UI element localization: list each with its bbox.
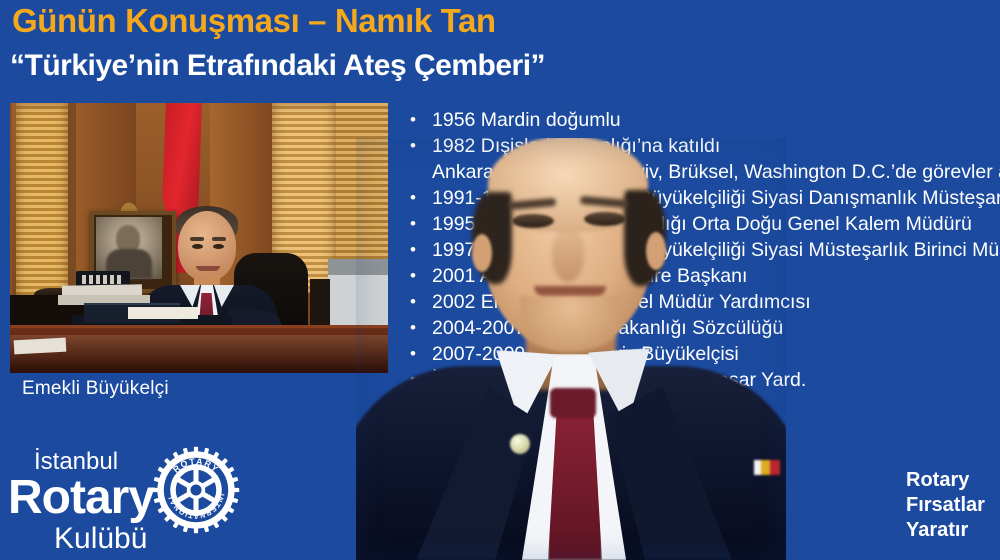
photo-telephone-keys bbox=[82, 275, 124, 284]
presentation-slide: Günün Konuşması – Namık Tan “Türkiye’nin… bbox=[0, 0, 1000, 560]
club-suffix-label: Kulübü bbox=[54, 522, 147, 556]
rotary-tagline: RotaryFırsatlarYaratır bbox=[906, 468, 985, 543]
club-name-label: Rotary bbox=[8, 470, 154, 525]
bullet-item-0: •1956 Mardin doğumlu bbox=[406, 107, 1000, 133]
photo-man-brow-right bbox=[212, 237, 226, 241]
photo-caption: Emekli Büyükelçi bbox=[22, 378, 169, 400]
tagline-line-2: Yaratır bbox=[906, 518, 985, 543]
photo-desk-reflection bbox=[10, 335, 388, 369]
photo-window-blinds-left bbox=[16, 103, 68, 303]
bullet-marker-icon: • bbox=[406, 107, 432, 133]
photo-desk-paper-center bbox=[128, 307, 198, 319]
speaker-photo bbox=[10, 103, 388, 373]
video-edge-blend bbox=[356, 138, 786, 560]
photo-man-mouth bbox=[196, 266, 220, 271]
slide-title: Günün Konuşması – Namık Tan bbox=[12, 2, 752, 40]
photo-man-eye-left bbox=[192, 244, 203, 249]
slide-subtitle: “Türkiye’nin Etrafındaki Ateş Çemberi” bbox=[10, 48, 770, 84]
photo-man-eye-right bbox=[213, 244, 224, 249]
tagline-line-0: Rotary bbox=[906, 468, 985, 493]
rotary-international-wheel-icon: ROTARY INTERNATIONAL bbox=[150, 444, 242, 536]
tagline-line-1: Fırsatlar bbox=[906, 493, 985, 518]
photo-desk-paper-left bbox=[14, 338, 67, 355]
speaker-video-overlay[interactable] bbox=[356, 138, 786, 560]
photo-printer-shadow bbox=[310, 279, 330, 329]
photo-man-brow-left bbox=[190, 237, 204, 241]
bullet-text: 1956 Mardin doğumlu bbox=[432, 107, 621, 133]
